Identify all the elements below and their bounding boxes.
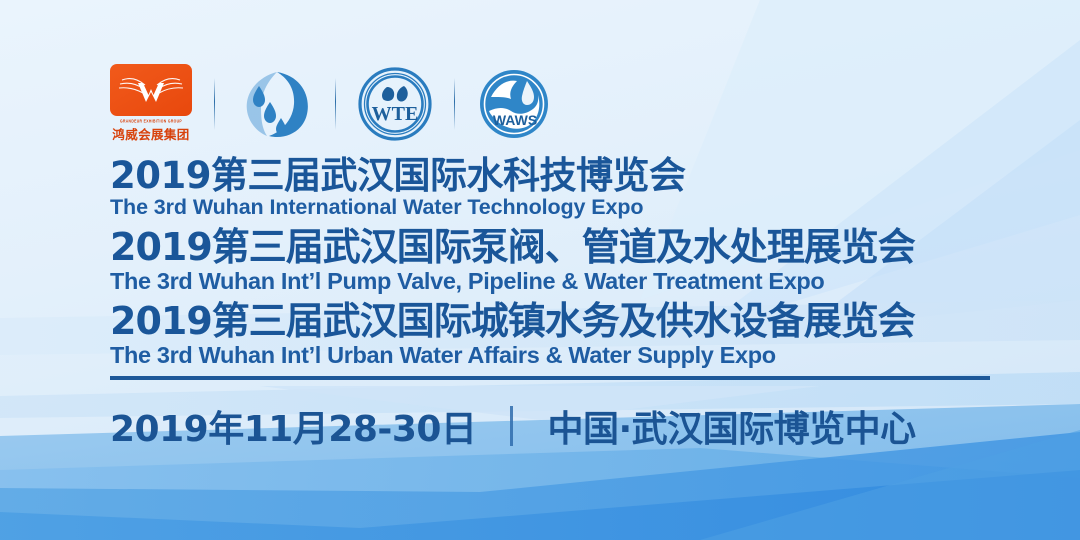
logo-strip: GRANDEUR EXHIBITION GROUP 鸿威会展集团 [110, 62, 551, 146]
water-drop-circle-mark [237, 66, 313, 142]
event-date: 2019年11月28-30日 [110, 400, 476, 452]
title-group-water-technology: 2019第三届武汉国际水科技博览会 The 3rd Wuhan Internat… [110, 157, 990, 219]
detail-divider [510, 406, 513, 446]
waws-globe-mark: WAWS [477, 67, 551, 141]
waws-label: WAWS [493, 112, 537, 128]
logo-divider-2 [335, 78, 336, 130]
title-stack: 2019第三届武汉国际水科技博览会 The 3rd Wuhan Internat… [110, 157, 990, 380]
event-details: 2019年11月28-30日 中国·武汉国际博览中心 [110, 400, 916, 452]
wte-label: WTE [372, 103, 419, 125]
wings-w-mark [116, 69, 186, 111]
title-1-english: The 3rd Wuhan International Water Techno… [110, 196, 990, 219]
wte-circle-mark: WTE [358, 67, 432, 141]
event-banner: GRANDEUR EXHIBITION GROUP 鸿威会展集团 [0, 0, 1080, 540]
logo-wte[interactable]: WTE [358, 67, 432, 141]
title-3-chinese: 2019第三届武汉国际城镇水务及供水设备展览会 [110, 302, 990, 342]
grandeur-plate [110, 64, 192, 116]
grandeur-chinese-text: 鸿威会展集团 [112, 124, 189, 143]
horizontal-divider [110, 376, 990, 380]
event-venue: 中国·武汉国际博览中心 [547, 400, 915, 452]
title-2-english: The 3rd Wuhan Int’l Pump Valve, Pipeline… [110, 269, 990, 294]
logo-divider-1 [214, 78, 215, 130]
logo-grandeur-exhibition-group[interactable]: GRANDEUR EXHIBITION GROUP 鸿威会展集团 [110, 64, 192, 144]
title-group-pump-valve: 2019第三届武汉国际泵阀、管道及水处理展览会 The 3rd Wuhan In… [110, 228, 990, 293]
logo-water-drop[interactable] [237, 66, 313, 142]
logo-divider-3 [454, 78, 455, 130]
logo-waws[interactable]: WAWS [477, 67, 551, 141]
title-group-urban-water: 2019第三届武汉国际城镇水务及供水设备展览会 The 3rd Wuhan In… [110, 302, 990, 367]
grandeur-english-text: GRANDEUR EXHIBITION GROUP [120, 118, 182, 123]
title-2-chinese: 2019第三届武汉国际泵阀、管道及水处理展览会 [110, 228, 990, 268]
title-3-english: The 3rd Wuhan Int’l Urban Water Affairs … [110, 343, 990, 368]
title-1-chinese: 2019第三届武汉国际水科技博览会 [110, 157, 990, 195]
